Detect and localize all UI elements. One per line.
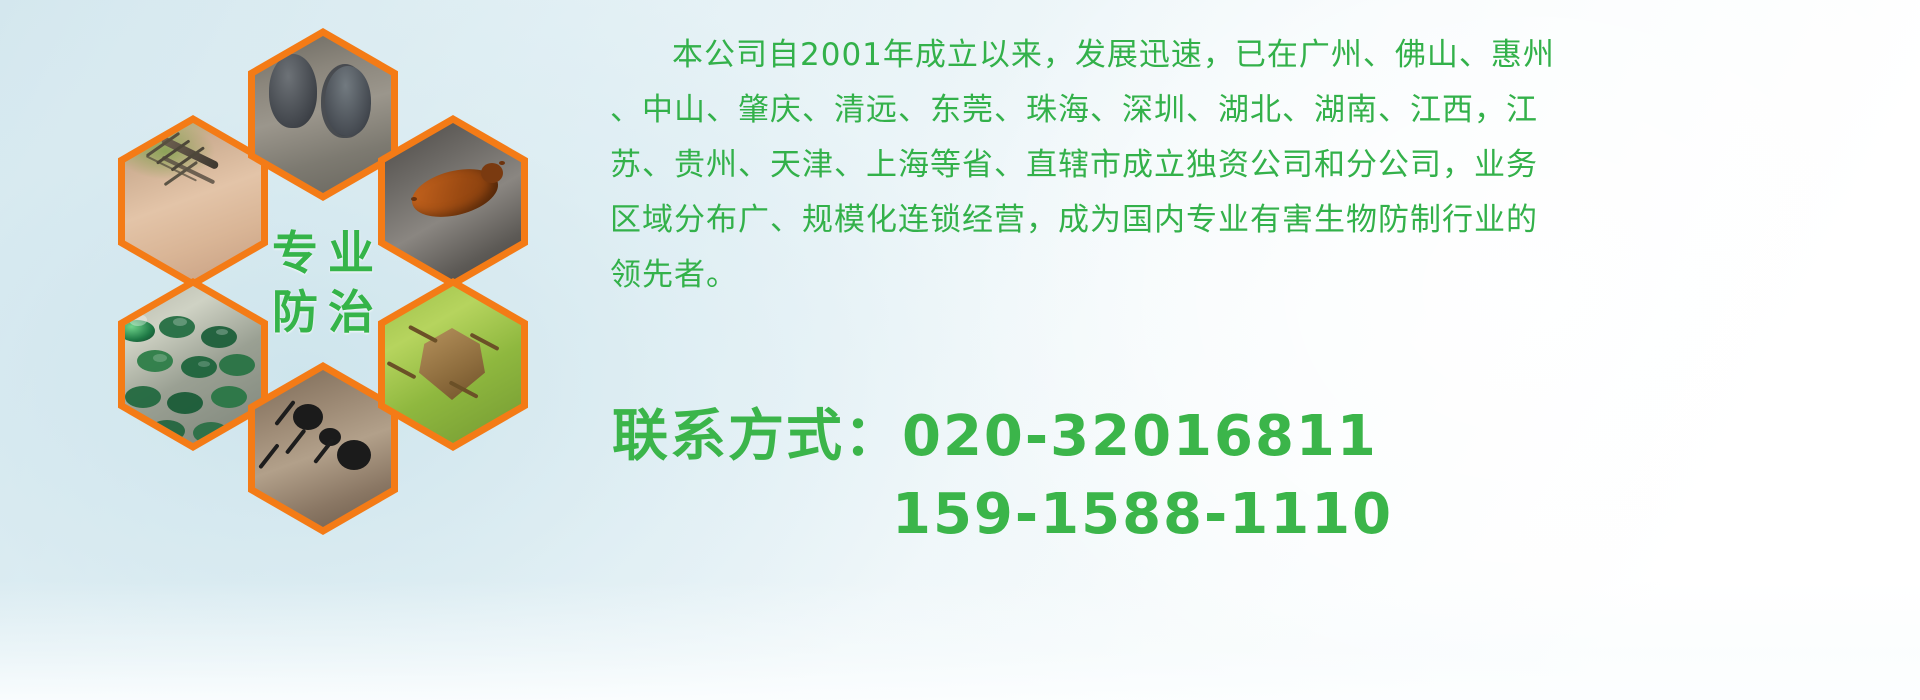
contact-phone-secondary[interactable]: 159-1588-1110 — [612, 476, 1912, 554]
hex-photo-stinkbug — [378, 278, 528, 451]
slogan-block: 专业 防治 — [255, 204, 391, 361]
contact-label: 联系方式： — [612, 404, 902, 469]
slogan-line-2: 防治 — [262, 288, 384, 336]
hex-slogan-center: 专业 防治 — [248, 196, 398, 369]
hex-photo-cockroach — [378, 115, 528, 288]
description-line-5: 领先者。 — [610, 248, 1880, 303]
mosquito-icon — [125, 123, 261, 280]
hexagon-photo-cluster: 专业 防治 — [90, 10, 590, 580]
slogan-line-1: 专业 — [262, 229, 384, 277]
stinkbug-icon — [385, 286, 521, 443]
bottom-fade — [0, 580, 1920, 700]
contact-block: 联系方式：020-32016811 159-1588-1110 — [612, 398, 1912, 554]
contact-phone-primary[interactable]: 020-32016811 — [902, 404, 1378, 469]
description-line-1: 本公司自2001年成立以来，发展迅速，已在广州、佛山、惠州 — [610, 28, 1880, 83]
contact-primary-line: 联系方式：020-32016811 — [612, 398, 1912, 476]
description-line-4: 区域分布广、规模化连锁经营，成为国内专业有害生物防制行业的 — [610, 193, 1880, 248]
hex-photo-rats — [248, 28, 398, 201]
fly-icon — [125, 286, 261, 443]
description-line-2: 、中山、肇庆、清远、东莞、珠海、深圳、湖北、湖南、江西，江 — [610, 83, 1880, 138]
hex-photo-ant — [248, 362, 398, 535]
rat-icon — [255, 36, 391, 193]
promo-banner: 专业 防治 本公司自2001年成立以来，发展迅速，已在广州、佛山、惠州 、中山、… — [0, 0, 1920, 700]
ant-icon — [255, 370, 391, 527]
hex-photo-mosquito — [118, 115, 268, 288]
cockroach-icon — [385, 123, 521, 280]
company-description: 本公司自2001年成立以来，发展迅速，已在广州、佛山、惠州 、中山、肇庆、清远、… — [610, 28, 1880, 303]
hex-photo-flies — [118, 278, 268, 451]
description-line-3: 苏、贵州、天津、上海等省、直辖市成立独资公司和分公司，业务 — [610, 138, 1880, 193]
